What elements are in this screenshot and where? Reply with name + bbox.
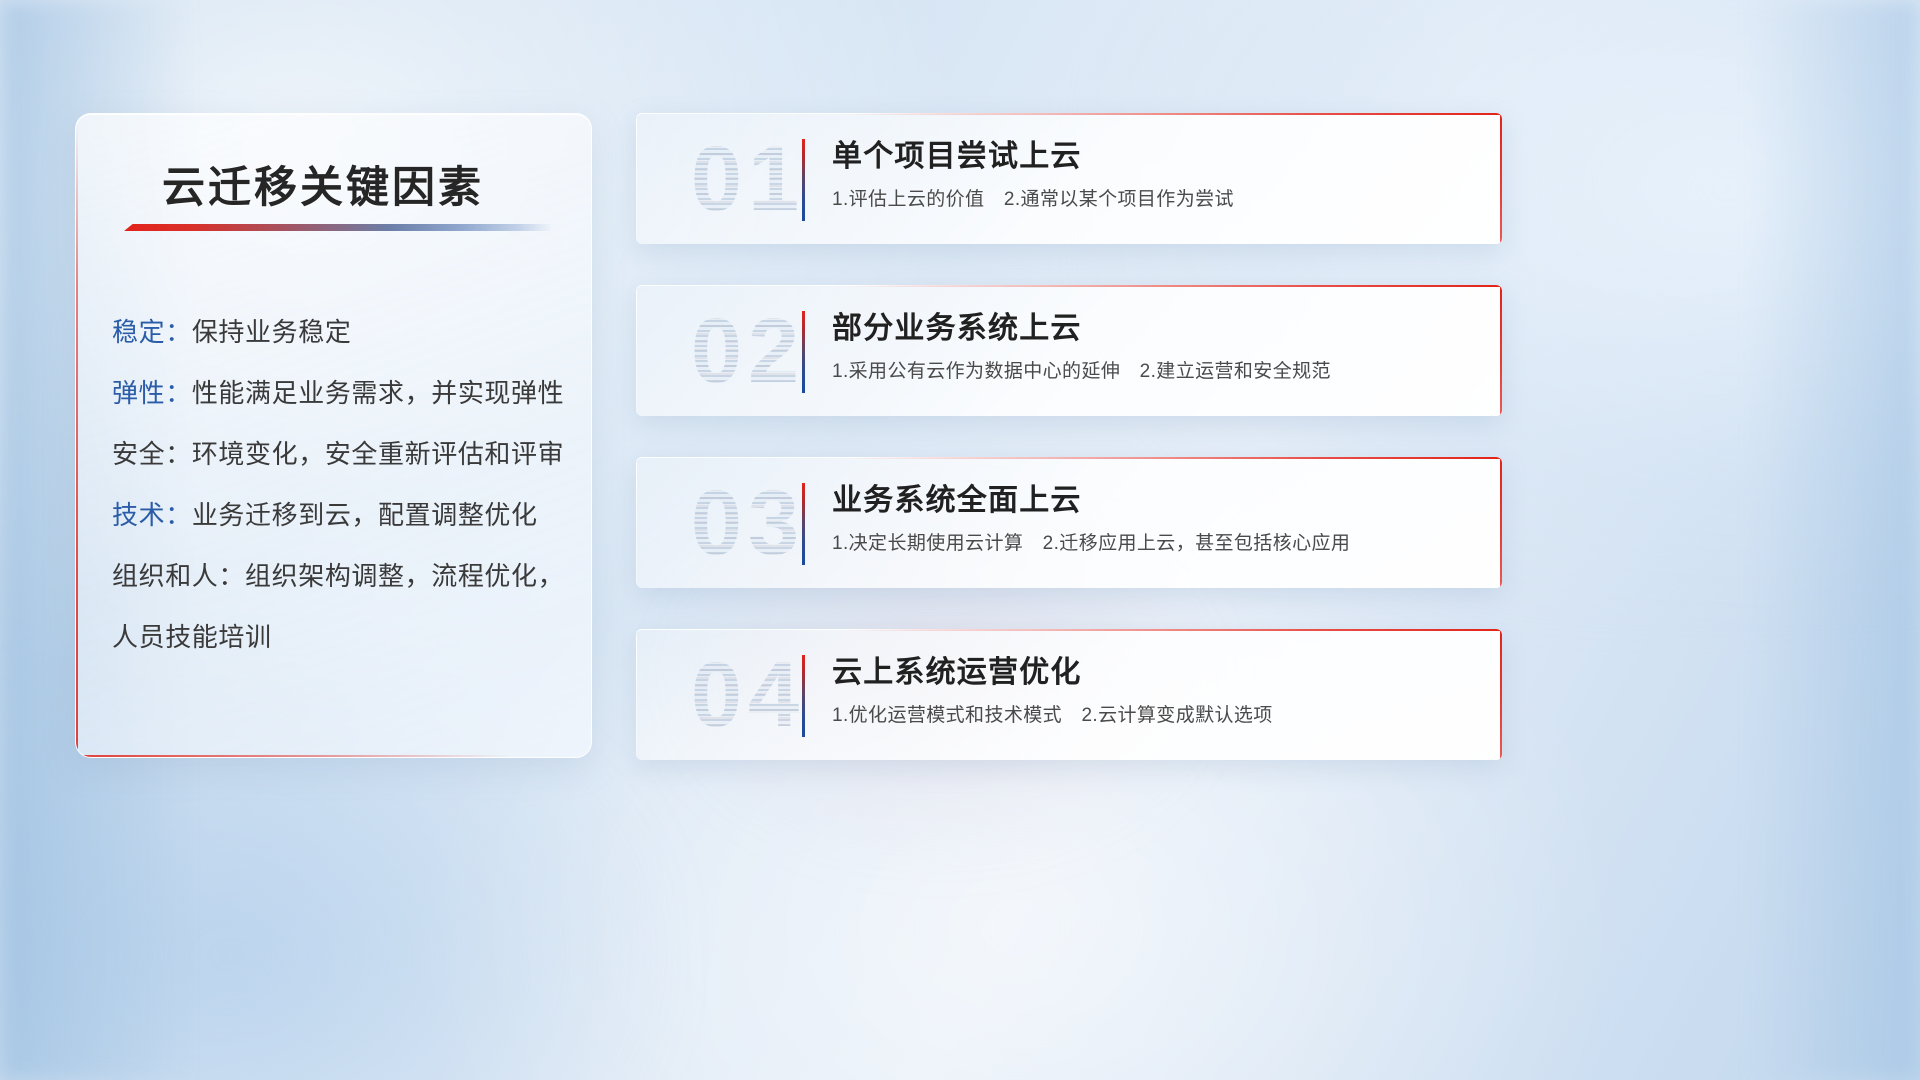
card-divider-bar	[802, 655, 805, 737]
list-item-text: 保持业务稳定	[192, 317, 352, 347]
slide-stage: 云迁移关键因素 稳定：保持业务稳定 弹性：性能满足业务需求，并实现弹性 安全：环…	[0, 0, 1920, 1080]
card-right-accent-line	[1500, 285, 1502, 416]
card-description: 1.优化运营模式和技术模式 2.云计算变成默认选项	[832, 703, 1476, 729]
card-left-highlight	[636, 635, 637, 754]
list-item-continuation: 人员技能培训	[112, 607, 567, 668]
card-top-accent-line	[844, 113, 1502, 115]
list-item-label: 组织和人：	[112, 561, 245, 591]
card-title: 业务系统全面上云	[832, 479, 1476, 523]
card-description: 1.评估上云的价值 2.通常以某个项目作为尝试	[832, 187, 1476, 213]
list-item-text: 组织架构调整，流程优化，	[245, 561, 564, 591]
stage-number-02: 02	[658, 295, 838, 407]
list-item-text: 业务迁移到云，配置调整优化	[192, 500, 538, 530]
list-item: 技术：业务迁移到云，配置调整优化	[112, 485, 567, 546]
list-item: 稳定：保持业务稳定	[112, 302, 567, 363]
stage-number-03: 03	[658, 467, 838, 579]
stage-card-02[interactable]: 02 02 部分业务系统上云 1.采用公有云作为数据中心的延伸 2.建立运营和安…	[636, 285, 1502, 416]
card-title: 部分业务系统上云	[832, 307, 1476, 351]
list-item-label: 安全：	[112, 439, 192, 469]
title-underline-gradient	[124, 224, 554, 231]
list-item-label: 稳定：	[112, 317, 192, 347]
card-content: 业务系统全面上云 1.决定长期使用云计算 2.迁移应用上云，甚至包括核心应用	[832, 479, 1476, 557]
card-left-highlight	[636, 463, 637, 582]
key-factors-list: 稳定：保持业务稳定 弹性：性能满足业务需求，并实现弹性 安全：环境变化，安全重新…	[112, 302, 567, 668]
page-title: 云迁移关键因素	[162, 153, 484, 215]
card-top-accent-line	[844, 285, 1502, 287]
card-description: 1.决定长期使用云计算 2.迁移应用上云，甚至包括核心应用	[832, 531, 1476, 557]
stage-card-03[interactable]: 03 03 业务系统全面上云 1.决定长期使用云计算 2.迁移应用上云，甚至包括…	[636, 457, 1502, 588]
stage-number-01: 01	[658, 123, 838, 235]
key-factors-panel: 云迁移关键因素 稳定：保持业务稳定 弹性：性能满足业务需求，并实现弹性 安全：环…	[75, 113, 592, 758]
stage-number-04: 04	[658, 639, 838, 751]
stage-cards-list: 01 01 单个项目尝试上云 1.评估上云的价值 2.通常以某个项目作为尝试 0…	[636, 113, 1502, 760]
card-content: 云上系统运营优化 1.优化运营模式和技术模式 2.云计算变成默认选项	[832, 651, 1476, 729]
card-title: 单个项目尝试上云	[832, 135, 1476, 179]
card-content: 单个项目尝试上云 1.评估上云的价值 2.通常以某个项目作为尝试	[832, 135, 1476, 213]
stage-card-04[interactable]: 04 04 云上系统运营优化 1.优化运营模式和技术模式 2.云计算变成默认选项	[636, 629, 1502, 760]
card-top-accent-line	[844, 457, 1502, 459]
card-left-highlight	[636, 119, 637, 238]
card-description: 1.采用公有云作为数据中心的延伸 2.建立运营和安全规范	[832, 359, 1476, 385]
list-item: 弹性：性能满足业务需求，并实现弹性	[112, 363, 567, 424]
list-item-label: 技术：	[112, 500, 192, 530]
card-divider-bar	[802, 483, 805, 565]
card-right-accent-line	[1500, 113, 1502, 244]
list-item: 组织和人：组织架构调整，流程优化，	[112, 546, 567, 607]
list-item: 安全：环境变化，安全重新评估和评审	[112, 424, 567, 485]
list-item-label: 弹性：	[112, 378, 192, 408]
list-item-text: 性能满足业务需求，并实现弹性	[192, 378, 564, 408]
card-divider-bar	[802, 311, 805, 393]
stage-card-01[interactable]: 01 01 单个项目尝试上云 1.评估上云的价值 2.通常以某个项目作为尝试	[636, 113, 1502, 244]
list-item-text: 环境变化，安全重新评估和评审	[192, 439, 564, 469]
card-title: 云上系统运营优化	[832, 651, 1476, 695]
card-top-accent-line	[844, 629, 1502, 631]
card-left-highlight	[636, 291, 637, 410]
card-right-accent-line	[1500, 457, 1502, 588]
list-item-text: 人员技能培训	[112, 622, 272, 652]
card-right-accent-line	[1500, 629, 1502, 760]
card-content: 部分业务系统上云 1.采用公有云作为数据中心的延伸 2.建立运营和安全规范	[832, 307, 1476, 385]
card-divider-bar	[802, 139, 805, 221]
